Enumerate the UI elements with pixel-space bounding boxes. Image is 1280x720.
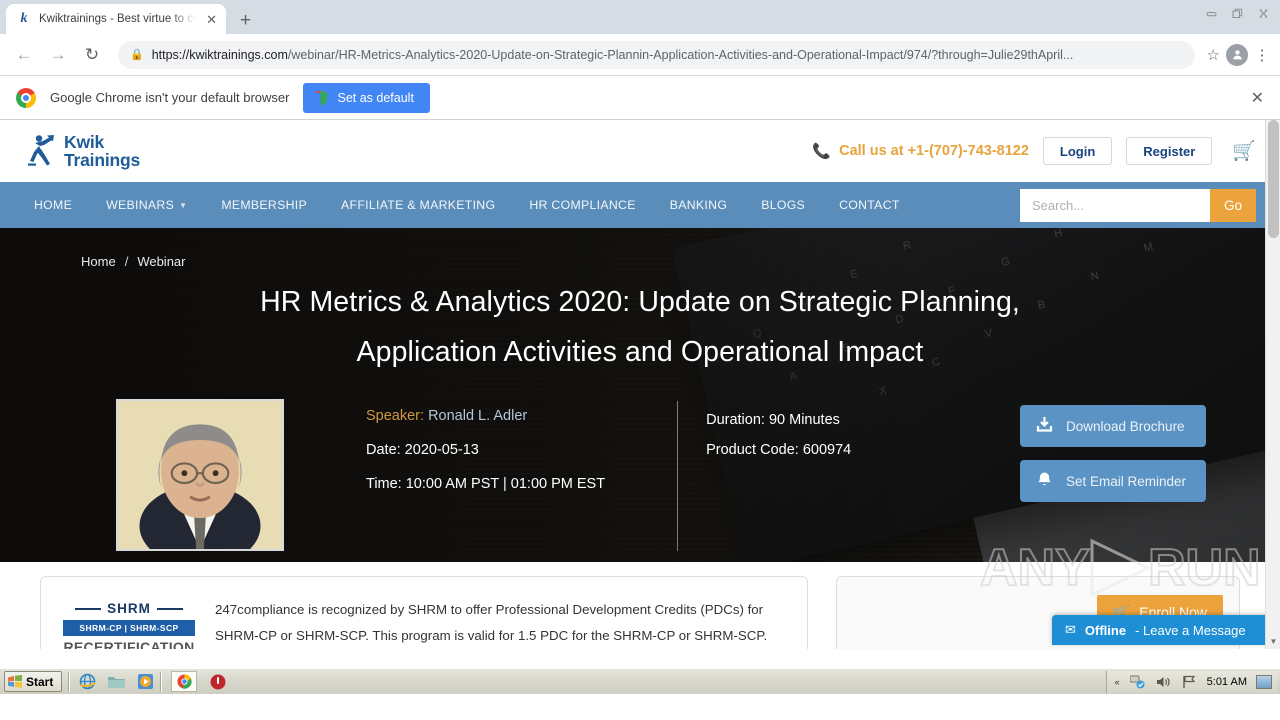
tab-close-icon[interactable]: ✕ xyxy=(203,11,220,28)
search-go-button[interactable]: Go xyxy=(1210,189,1256,222)
breadcrumb: Home / Webinar xyxy=(26,228,1254,269)
live-chat-widget[interactable]: ✉ Offline - Leave a Message xyxy=(1052,615,1272,645)
shrm-top-row: SHRM xyxy=(63,601,195,616)
tab-strip: k Kwiktrainings - Best virtue to crack y… xyxy=(0,0,1280,34)
set-as-default-button[interactable]: Set as default xyxy=(303,83,429,113)
scrollbar-thumb[interactable] xyxy=(1268,120,1279,238)
url-path: /webinar/HR-Metrics-Analytics-2020-Updat… xyxy=(288,48,1073,62)
chrome-icon[interactable] xyxy=(171,671,197,692)
nav-label: AFFILIATE & MARKETING xyxy=(341,198,495,212)
bell-icon xyxy=(1036,471,1053,491)
kwik-runner-logo-icon xyxy=(26,134,58,168)
nav-item-blogs[interactable]: BLOGS xyxy=(744,198,822,212)
event-meta-right: Duration: 90 Minutes Product Code: 60097… xyxy=(706,399,851,551)
nav-label: BANKING xyxy=(670,198,727,212)
profile-avatar-icon[interactable] xyxy=(1226,44,1248,66)
nav-item-membership[interactable]: MEMBERSHIP xyxy=(204,198,324,212)
header-actions: 📞 Call us at +1-(707)-743-8122 Login Reg… xyxy=(812,137,1256,165)
folder-icon[interactable] xyxy=(108,673,125,690)
shrm-label: SHRM xyxy=(107,601,151,616)
media-player-icon[interactable] xyxy=(137,673,154,690)
speaker-name[interactable]: Ronald L. Adler xyxy=(428,408,527,424)
shrm-rule-right xyxy=(157,608,183,610)
address-bar[interactable]: 🔒 https://kwiktrainings.com/webinar/HR-M… xyxy=(118,41,1195,69)
internet-explorer-icon[interactable] xyxy=(79,673,96,690)
search-input[interactable] xyxy=(1020,189,1210,222)
browser-window: k Kwiktrainings - Best virtue to crack y… xyxy=(0,0,1280,694)
network-icon[interactable] xyxy=(1129,673,1146,690)
volume-icon[interactable] xyxy=(1155,673,1172,690)
kwik-favicon-icon: k xyxy=(16,11,32,27)
hero-banner: QW ER TY U AS DF GH ZX CV BN M Home xyxy=(0,228,1280,562)
login-button[interactable]: Login xyxy=(1043,137,1112,165)
shrm-recertification-label: RECERTIFICATION xyxy=(63,639,195,649)
windows-taskbar: Start « xyxy=(0,668,1280,694)
shrm-rule-left xyxy=(75,608,101,610)
nav-item-home[interactable]: HOME xyxy=(34,198,89,212)
star-icon[interactable]: ☆ xyxy=(1207,46,1220,64)
set-as-default-label: Set as default xyxy=(337,91,413,105)
url-text: https://kwiktrainings.com/webinar/HR-Met… xyxy=(152,48,1074,62)
nav-label: BLOGS xyxy=(761,198,805,212)
close-icon[interactable] xyxy=(1250,2,1276,24)
chat-message: - Leave a Message xyxy=(1135,623,1246,638)
chrome-logo-icon xyxy=(16,88,36,108)
windows-flag-icon xyxy=(8,675,22,688)
nav-item-webinars[interactable]: WEBINARS▼ xyxy=(89,198,204,212)
system-tray: « 5:01 AM xyxy=(1106,671,1278,693)
show-hidden-icons-icon[interactable]: « xyxy=(1115,677,1120,687)
lock-icon: 🔒 xyxy=(130,48,144,61)
taskbar-separator-2 xyxy=(160,672,161,692)
phone-icon: 📞 xyxy=(812,142,831,160)
site-logo[interactable]: Kwik Trainings xyxy=(26,133,140,170)
tab-title: Kwiktrainings - Best virtue to crack y xyxy=(39,13,196,25)
web-page: Kwik Trainings 📞 Call us at +1-(707)-743… xyxy=(0,120,1280,649)
nav-label: HOME xyxy=(34,198,72,212)
window-controls xyxy=(1198,2,1276,24)
kebab-menu-icon[interactable]: ⋮ xyxy=(1254,46,1270,64)
page-title: HR Metrics & Analytics 2020: Update on S… xyxy=(26,277,1254,377)
logo-line-2: Trainings xyxy=(64,151,140,169)
infobar-message: Google Chrome isn't your default browser xyxy=(50,90,289,105)
speaker-photo xyxy=(116,399,284,551)
breadcrumb-separator: / xyxy=(125,254,129,269)
speaker-row: Speaker: Ronald L. Adler xyxy=(366,399,605,433)
stop-record-icon[interactable] xyxy=(209,673,226,690)
hero-action-buttons: Download Brochure Set Email Reminder xyxy=(1020,399,1206,551)
show-desktop-icon[interactable] xyxy=(1256,675,1272,689)
reload-icon[interactable]: ↻ xyxy=(78,41,106,69)
set-email-reminder-label: Set Email Reminder xyxy=(1066,474,1186,489)
hero-content: Home / Webinar HR Metrics & Analytics 20… xyxy=(0,228,1280,551)
speaker-label: Speaker: xyxy=(366,408,424,424)
envelope-icon: ✉ xyxy=(1065,622,1076,638)
clock[interactable]: 5:01 AM xyxy=(1207,676,1247,688)
main-navigation: HOME WEBINARS▼ MEMBERSHIP AFFILIATE & MA… xyxy=(0,182,1280,228)
nav-item-banking[interactable]: BANKING xyxy=(653,198,744,212)
quick-launch-bar xyxy=(75,673,154,690)
start-label: Start xyxy=(26,675,53,689)
logo-line-1: Kwik xyxy=(64,133,140,151)
infobar-close-icon[interactable]: ✕ xyxy=(1251,88,1264,108)
event-meta-left: Speaker: Ronald L. Adler Date: 2020-05-1… xyxy=(366,399,605,551)
breadcrumb-home[interactable]: Home xyxy=(81,254,116,269)
nav-label: MEMBERSHIP xyxy=(221,198,307,212)
vertical-divider xyxy=(677,401,678,551)
minimize-icon[interactable] xyxy=(1198,2,1224,24)
event-product-code: Product Code: 600974 xyxy=(706,435,851,465)
shrm-description: 247compliance is recognized by SHRM to o… xyxy=(215,597,785,649)
back-arrow-icon[interactable]: ← xyxy=(10,41,38,69)
page-scrollbar[interactable]: ▲ ▼ xyxy=(1265,120,1280,649)
start-button[interactable]: Start xyxy=(4,671,62,692)
taskbar-separator xyxy=(68,672,69,692)
shrm-cert-bar: SHRM-CP | SHRM-SCP xyxy=(63,620,195,636)
search-box: Go xyxy=(1020,189,1256,222)
hero-details: Speaker: Ronald L. Adler Date: 2020-05-1… xyxy=(26,399,1254,551)
chevron-down-icon: ▼ xyxy=(179,201,187,210)
chat-status: Offline xyxy=(1085,623,1126,638)
download-brochure-label: Download Brochure xyxy=(1066,419,1185,434)
scroll-down-icon[interactable]: ▼ xyxy=(1266,634,1280,649)
taskbar-tasks xyxy=(167,671,226,692)
url-domain: https://kwiktrainings.com xyxy=(152,48,288,62)
browser-toolbar: ← → ↻ 🔒 https://kwiktrainings.com/webina… xyxy=(0,34,1280,76)
site-logo-text: Kwik Trainings xyxy=(64,133,140,170)
page-title-line-1: HR Metrics & Analytics 2020: Update on S… xyxy=(26,277,1254,327)
download-brochure-button[interactable]: Download Brochure xyxy=(1020,405,1206,447)
call-us-text[interactable]: 📞 Call us at +1-(707)-743-8122 xyxy=(812,142,1029,160)
event-time: Time: 10:00 AM PST | 01:00 PM EST xyxy=(366,467,605,501)
security-flag-icon[interactable] xyxy=(1181,673,1198,690)
restore-icon[interactable] xyxy=(1224,2,1250,24)
event-date: Date: 2020-05-13 xyxy=(366,433,605,467)
new-tab-button[interactable]: + xyxy=(240,11,251,30)
page-title-line-2: Application Activities and Operational I… xyxy=(26,327,1254,377)
browser-tab[interactable]: k Kwiktrainings - Best virtue to crack y… xyxy=(6,4,226,34)
shrm-logo: SHRM SHRM-CP | SHRM-SCP RECERTIFICATION … xyxy=(63,597,195,649)
shrm-card: SHRM SHRM-CP | SHRM-SCP RECERTIFICATION … xyxy=(40,576,808,649)
set-email-reminder-button[interactable]: Set Email Reminder xyxy=(1020,460,1206,502)
default-browser-infobar: Google Chrome isn't your default browser… xyxy=(0,76,1280,120)
shield-icon xyxy=(313,90,328,106)
nav-label: CONTACT xyxy=(839,198,900,212)
event-duration: Duration: 90 Minutes xyxy=(706,405,851,435)
nav-item-affiliate-marketing[interactable]: AFFILIATE & MARKETING xyxy=(324,198,512,212)
phone-number: Call us at +1-(707)-743-8122 xyxy=(839,143,1029,159)
download-icon xyxy=(1036,416,1053,436)
site-header: Kwik Trainings 📞 Call us at +1-(707)-743… xyxy=(0,120,1280,182)
forward-arrow-icon[interactable]: → xyxy=(44,41,72,69)
breadcrumb-current[interactable]: Webinar xyxy=(137,254,185,269)
nav-label: WEBINARS xyxy=(106,198,174,212)
register-button[interactable]: Register xyxy=(1126,137,1212,165)
nav-item-contact[interactable]: CONTACT xyxy=(822,198,917,212)
nav-item-hr-compliance[interactable]: HR COMPLIANCE xyxy=(512,198,652,212)
nav-label: HR COMPLIANCE xyxy=(529,198,635,212)
shopping-cart-icon[interactable]: 🛒 xyxy=(1232,139,1256,163)
